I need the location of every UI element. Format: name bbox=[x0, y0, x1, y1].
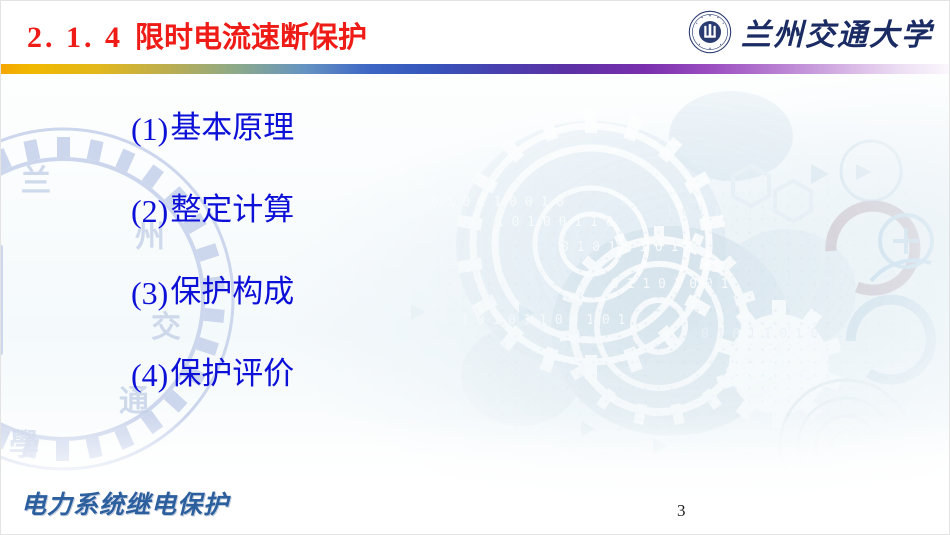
page-title: 2. 1. 4限时电流速断保护 bbox=[27, 14, 367, 56]
list-item-label: 整定计算 bbox=[170, 195, 294, 226]
list-item-marker: (1) bbox=[131, 113, 168, 145]
university-seal-icon bbox=[688, 10, 732, 54]
list-item-marker: (3) bbox=[131, 277, 168, 309]
list-item[interactable]: (3) 保护构成 bbox=[131, 277, 561, 359]
title-section-text: 限时电流速断保护 bbox=[135, 20, 367, 54]
list-item[interactable]: (4) 保护评价 bbox=[131, 359, 561, 441]
course-title: 电力系统继电保护 bbox=[21, 485, 229, 521]
list-item[interactable]: (1) 基本原理 bbox=[131, 113, 561, 195]
slide-header: 2. 1. 4限时电流速断保护 bbox=[1, 1, 949, 64]
list-item[interactable]: (2) 整定计算 bbox=[131, 195, 561, 277]
title-section-number: 2. 1. 4 bbox=[27, 21, 123, 54]
university-logo: 兰州交通大学 bbox=[688, 7, 933, 57]
list-item-marker: (2) bbox=[131, 195, 168, 227]
list-item-marker: (4) bbox=[131, 359, 168, 391]
header-gradient-divider bbox=[1, 64, 949, 74]
list-item-label: 保护评价 bbox=[170, 359, 294, 390]
list-item-label: 保护构成 bbox=[170, 277, 294, 308]
page-number: 3 bbox=[677, 501, 686, 521]
outline-list: (1) 基本原理 (2) 整定计算 (3) 保护构成 (4) 保护评价 bbox=[131, 113, 561, 441]
university-name: 兰州交通大学 bbox=[741, 10, 933, 54]
slide-canvas: 0 1 0 1 1 0 0 1 0 1 0 1 0 0 1 1 0 0 1 0 … bbox=[0, 0, 950, 535]
list-item-label: 基本原理 bbox=[170, 113, 294, 144]
